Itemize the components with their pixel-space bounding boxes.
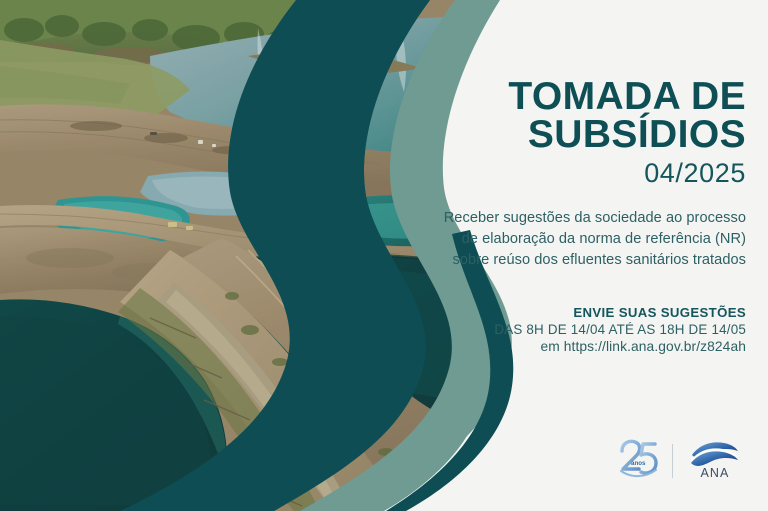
ana-wave-icon	[691, 442, 738, 466]
cta-link[interactable]: em https://link.ana.gov.br/z824ah	[441, 339, 746, 354]
title-block: TOMADA DE SUBSÍDIOS 04/2025	[446, 78, 746, 189]
anniversary-logo: anos	[615, 437, 661, 484]
edition-number: 04/2025	[446, 158, 746, 189]
logo-divider	[672, 444, 673, 478]
description-text: Receber sugestões da sociedade ao proces…	[441, 208, 746, 271]
call-to-action-block: ENVIE SUAS SUGESTÕES DAS 8H DE 14/04 ATÉ…	[441, 305, 746, 354]
ana-acronym: ANA	[700, 466, 729, 480]
title-line-1: TOMADA DE	[508, 75, 746, 118]
poster: TOMADA DE SUBSÍDIOS 04/2025 Receber suge…	[0, 0, 768, 511]
anniversary-word: anos	[631, 460, 646, 467]
text-column: TOMADA DE SUBSÍDIOS 04/2025 Receber suge…	[430, 0, 768, 511]
cta-heading: ENVIE SUAS SUGESTÕES	[441, 305, 746, 320]
ana-logo: ANA	[684, 436, 746, 485]
logo-group: anos	[615, 436, 746, 485]
page-title: TOMADA DE SUBSÍDIOS	[446, 78, 746, 154]
title-line-2: SUBSÍDIOS	[446, 116, 746, 154]
cta-period: DAS 8H DE 14/04 ATÉ AS 18H DE 14/05	[441, 322, 746, 337]
